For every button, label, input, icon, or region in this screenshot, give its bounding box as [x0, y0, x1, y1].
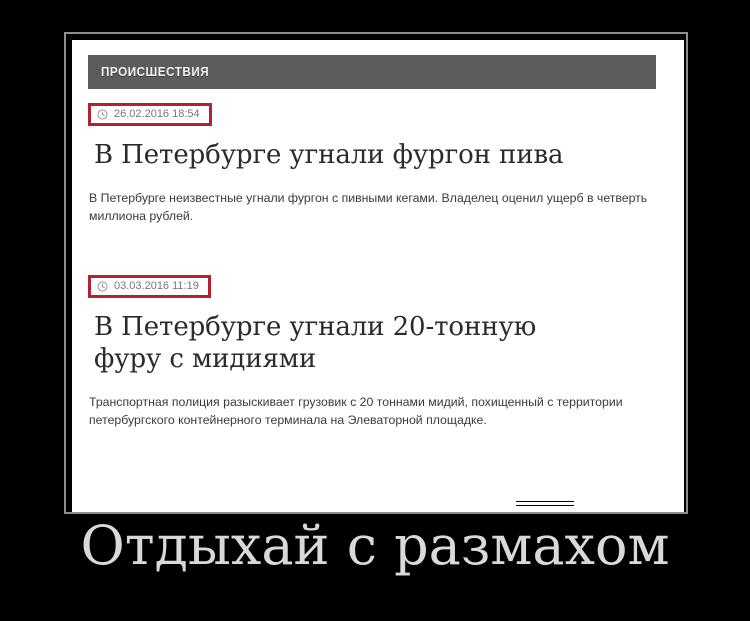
- watermark-rule: [516, 501, 574, 506]
- timestamp-text: 26.02.2016 18:54: [114, 109, 200, 120]
- section-header-bar: ПРОИСШЕСТВИЯ: [88, 55, 656, 89]
- article-body-text: В Петербурге неизвестные угнали фургон с…: [89, 189, 659, 225]
- timestamp-text: 03.03.2016 11:19: [114, 281, 199, 292]
- poster-caption: Отдыхай с размахом: [0, 518, 750, 575]
- clock-icon: [97, 109, 108, 120]
- news-screenshot-panel: ПРОИСШЕСТВИЯ 26.02.2016 18:54 В Петербур…: [72, 40, 684, 512]
- article-item: 26.02.2016 18:54 В Петербурге угнали фур…: [88, 103, 672, 225]
- clock-icon: [97, 281, 108, 292]
- watermark-corner-mark: [672, 500, 678, 508]
- watermark-text: DEMOTIVATORS.TO: [580, 499, 668, 508]
- timestamp-badge: 03.03.2016 11:19: [88, 275, 211, 298]
- timestamp-badge: 26.02.2016 18:54: [88, 103, 212, 126]
- section-header-label: ПРОИСШЕСТВИЯ: [88, 65, 209, 79]
- article-headline[interactable]: В Петербурге угнали 20-тонную фуру с мид…: [94, 312, 594, 376]
- article-item: 03.03.2016 11:19 В Петербурге угнали 20-…: [88, 275, 672, 429]
- article-headline[interactable]: В Петербурге угнали фургон пива: [94, 140, 672, 172]
- demotivator-poster: ПРОИСШЕСТВИЯ 26.02.2016 18:54 В Петербур…: [0, 0, 750, 621]
- watermark: DEMOTIVATORS.TO: [516, 499, 678, 508]
- article-body-text: Транспортная полиция разыскивает грузови…: [89, 393, 659, 429]
